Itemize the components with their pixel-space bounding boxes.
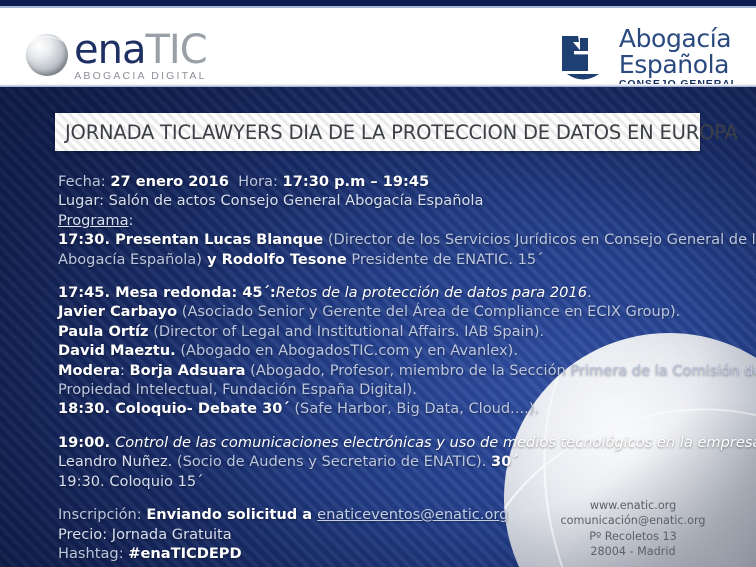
contact-email[interactable]: comunicación@enatic.org: [528, 513, 738, 528]
abogacia-line-2: Española: [619, 52, 738, 78]
speaker-2-name: Paula Ortíz: [58, 323, 149, 340]
item3-duration: 30´: [491, 453, 519, 470]
enatic-tagline: ABOGACIA DIGITAL: [74, 71, 207, 82]
program-item-2-heading: 17:45. Mesa redonda: 45´:Retos de la pro…: [58, 283, 718, 302]
program-item-3-speaker: Leandro Nuñez. (Socio de Audens y Secret…: [58, 452, 718, 471]
program-speaker-1: Javier Carbayo (Asociado Senior y Gerent…: [58, 302, 718, 321]
page-title: JORNADA TICLAWYERS DIA DE LA PROTECCION …: [55, 121, 738, 144]
inscripcion-label: Inscripción:: [58, 506, 146, 523]
programa-label: Programa: [58, 212, 129, 229]
abogacia-logo: Abogacía Española CONSEJO GENERAL: [556, 26, 738, 90]
enatic-globe-icon: [26, 34, 68, 76]
speaker-1-name: Javier Carbayo: [58, 303, 177, 320]
program-moderator-line-2: Propiedad Intelectual, Fundación España …: [58, 380, 718, 399]
programa-heading: Programa:: [58, 211, 718, 230]
speaker-2-detail: (Director of Legal and Institutional Aff…: [149, 323, 545, 340]
item3-time: 19:00.: [58, 434, 115, 451]
poster-canvas: enaTIC ABOGACIA DIGITAL Abogacía Español…: [0, 0, 756, 567]
item1-speaker: y Rodolfo Tesone: [202, 251, 347, 268]
speaker-3-detail: (Abogado en AbogadosTIC.com y en Avanlex…: [176, 342, 518, 359]
contact-address-line-2: 28004 - Madrid: [528, 544, 738, 559]
item2-time: 17:45. Mesa redonda: 45´:: [58, 284, 276, 301]
program-speaker-3: David Maeztu. (Abogado en AbogadosTIC.co…: [58, 341, 718, 360]
program-speaker-2: Paula Ortíz (Director of Legal and Insti…: [58, 322, 718, 341]
hora-label: Hora:: [238, 173, 278, 190]
fecha-label: Fecha:: [58, 173, 106, 190]
coloquio-1-time: 18:30. Coloquio- Debate 30´: [58, 400, 290, 417]
title-plate: JORNADA TICLAWYERS DIA DE LA PROTECCION …: [55, 113, 700, 151]
contact-block: www.enatic.org comunicación@enatic.org P…: [528, 498, 738, 559]
spacer: [58, 419, 718, 433]
spacer: [58, 269, 718, 283]
item2-period: .: [587, 284, 592, 301]
enatic-name-tic: TIC: [145, 27, 206, 73]
item1-detail: (Director de los Servicios Jurídicos en …: [323, 231, 756, 248]
item3-speaker-detail: (Socio de Audens y Secretario de ENATIC)…: [172, 453, 491, 470]
item1-role: Presidente de ENATIC. 15´: [347, 251, 544, 268]
program-coloquio-1: 18:30. Coloquio- Debate 30´ (Safe Harbor…: [58, 399, 718, 418]
fecha-value: 27 enero 2016: [110, 173, 229, 190]
header-band: enaTIC ABOGACIA DIGITAL Abogacía Español…: [0, 8, 756, 84]
enatic-wordmark: enaTIC ABOGACIA DIGITAL: [74, 30, 207, 82]
speaker-1-detail: (Asociado Senior y Gerente del Área de C…: [177, 303, 680, 320]
abogacia-wordmark: Abogacía Española CONSEJO GENERAL: [619, 26, 738, 90]
event-datetime-line: Fecha: 27 enero 2016 Hora: 17:30 p.m – 1…: [58, 172, 718, 191]
inscripcion-instruction: Enviando solicitud a: [146, 506, 317, 523]
item2-topic: Retos de la protección de datos para 201…: [276, 284, 587, 301]
hashtag-label: Hashtag:: [58, 545, 128, 562]
moderator-colon: :: [120, 362, 130, 379]
programa-colon: :: [129, 212, 134, 229]
contact-address-line-1: Pº Recoletos 13: [528, 529, 738, 544]
program-item-1-line-2: Abogacía Española) y Rodolfo Tesone Pres…: [58, 250, 718, 269]
program-coloquio-2: 19:30. Coloquio 15´: [58, 472, 718, 491]
moderator-name: Borja Adsuara: [130, 362, 246, 379]
item3-speaker-name: Leandro Nuñez.: [58, 453, 172, 470]
program-item-1-line-1: 17:30. Presentan Lucas Blanque (Director…: [58, 230, 718, 249]
enatic-logo: enaTIC ABOGACIA DIGITAL: [26, 30, 207, 82]
hora-value: 17:30 p.m – 19:45: [283, 173, 430, 190]
program-item-3-heading: 19:00. Control de las comunicaciones ele…: [58, 433, 718, 452]
contact-website[interactable]: www.enatic.org: [528, 498, 738, 513]
program-moderator-line-1: Modera: Borja Adsuara (Abogado, Profesor…: [58, 361, 718, 380]
event-venue-line: Lugar: Salón de actos Consejo General Ab…: [58, 191, 718, 210]
moderator-detail: (Abogado, Profesor, miembro de la Secció…: [246, 362, 756, 379]
enatic-name-ena: ena: [74, 27, 145, 73]
abogacia-shield-icon: [556, 31, 610, 85]
abogacia-line-1: Abogacía: [619, 26, 738, 52]
item1-org: Abogacía Española): [58, 251, 202, 268]
moderator-label: Modera: [58, 362, 120, 379]
coloquio-1-detail: (Safe Harbor, Big Data, Cloud....).: [290, 400, 539, 417]
speaker-3-name: David Maeztu.: [58, 342, 176, 359]
moderator-detail-cont: Propiedad Intelectual, Fundación España …: [58, 381, 417, 398]
hashtag-value: #enaTICDEPD: [128, 545, 241, 562]
signup-email-link[interactable]: enaticeventos@enatic.org: [317, 506, 508, 523]
item1-time: 17:30. Presentan Lucas Blanque: [58, 231, 323, 248]
item3-topic: Control de las comunicaciones electrónic…: [115, 434, 756, 451]
enatic-name: enaTIC: [74, 30, 207, 70]
